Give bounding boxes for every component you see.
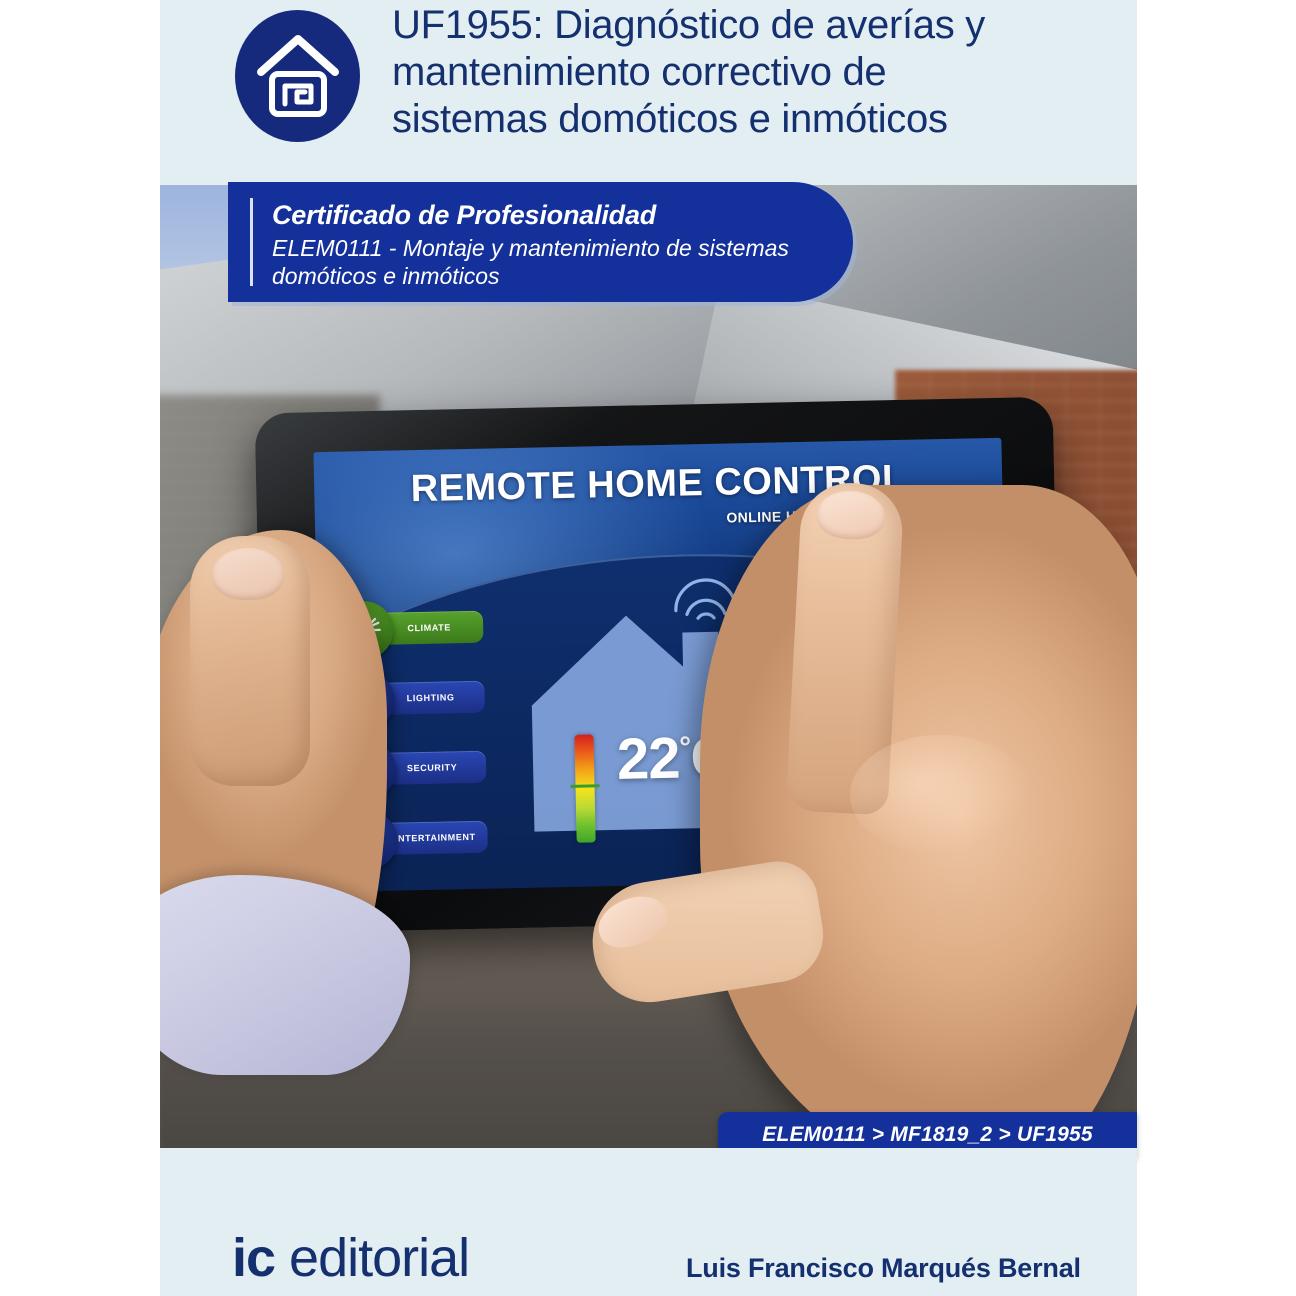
cover-footer: ic editorial Luis Francisco Marqués Bern… (160, 1148, 1137, 1296)
certificate-code-line-2: domóticos e inmóticos (272, 262, 832, 290)
cover-header: UF1955: Diagnóstico de averías y manteni… (160, 0, 1137, 185)
certificate-code: ELEM0111 - Montaje y mantenimiento de si… (272, 234, 832, 290)
shirt-cuff (160, 875, 410, 1075)
menu-label-security: SECURITY (393, 762, 458, 773)
publisher-mark: ic (232, 1228, 275, 1288)
publisher-logo: ic editorial (232, 1227, 469, 1289)
page-title: UF1955: Diagnóstico de averías y manteni… (392, 2, 1082, 142)
temperature-gauge (574, 734, 595, 842)
menu-label-lighting: LIGHTING (393, 692, 455, 703)
certificate-code-line-1: ELEM0111 - Montaje y mantenimiento de si… (272, 234, 832, 262)
page-title-line-1: UF1955: Diagnóstico de averías y (392, 2, 1082, 49)
page-title-line-2: mantenimiento correctivo de (392, 49, 1082, 96)
book-cover: UF1955: Diagnóstico de averías y manteni… (0, 0, 1296, 1296)
publisher-name: editorial (275, 1228, 469, 1288)
left-thumbnail (212, 548, 284, 600)
right-hand (700, 485, 1137, 1148)
right-hand-highlight (850, 735, 1030, 855)
right-index-fingernail (816, 489, 886, 540)
temperature-number: 22 (616, 726, 680, 792)
certificate-badge: Certificado de Profesionalidad ELEM0111 … (228, 182, 853, 302)
page-title-line-3: sistemas domóticos e inmóticos (392, 96, 1082, 143)
badge-accent-bar (250, 198, 253, 286)
menu-label-climate: CLIMATE (393, 622, 451, 633)
home-maze-icon (235, 10, 360, 142)
cover-photograph: REMOTE HOME CONTROL ONLINE HOME AUTOMATI… (160, 185, 1137, 1148)
left-thumb (190, 536, 310, 786)
degree-symbol: ° (679, 731, 691, 764)
author-name: Luis Francisco Marqués Bernal (686, 1253, 1081, 1284)
certificate-heading: Certificado de Profesionalidad (272, 200, 656, 231)
breadcrumb-text: ELEM0111 > MF1819_2 > UF1955 (762, 1123, 1093, 1147)
